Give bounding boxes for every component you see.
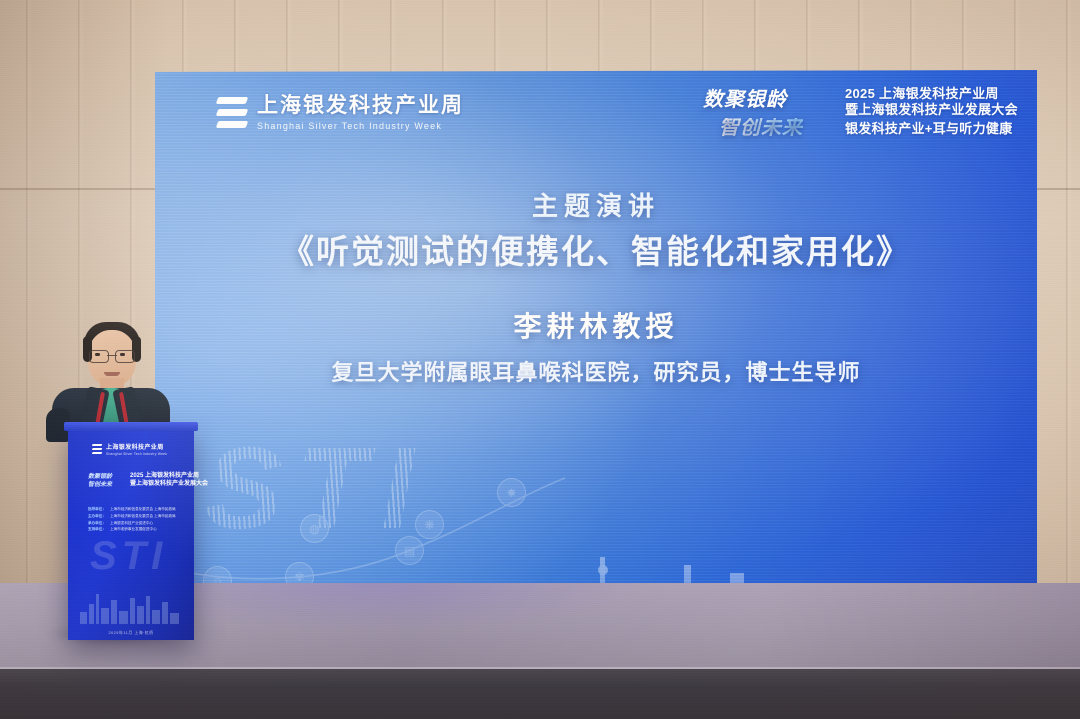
room-vignette bbox=[0, 0, 1080, 719]
conference-stage-photo: STI ▦ ☺ ✾ ◍ ▤ ❋ ✸ 上海银发科技产业周 Shangh bbox=[0, 0, 1080, 719]
